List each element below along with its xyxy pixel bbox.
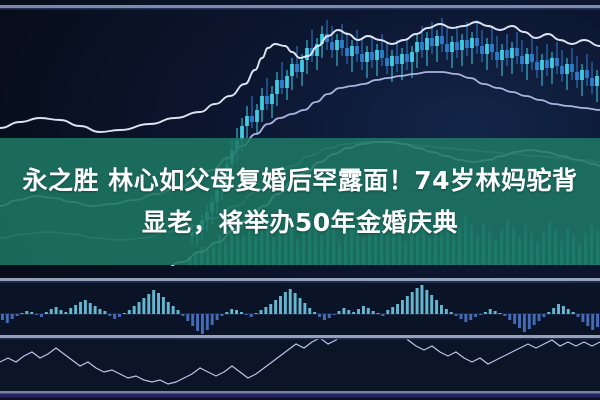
macd-bar [20, 313, 23, 314]
candle-body [370, 52, 374, 60]
candle-body [465, 40, 469, 48]
candle-body [475, 38, 479, 46]
macd-bar [577, 314, 580, 317]
macd-bar [94, 306, 97, 314]
headline-line-1: 永之胜 林心如父母复婚后罕露面！74岁林妈驼背 [23, 161, 578, 201]
macd-bar [216, 314, 219, 320]
macd-bar [245, 314, 248, 315]
macd-bar [357, 309, 360, 314]
macd-bar [118, 314, 121, 317]
macd-bar [430, 295, 433, 314]
candle-body [255, 110, 259, 122]
macd-bar [152, 290, 155, 314]
macd-bar [274, 300, 277, 314]
macd-bar [50, 309, 53, 314]
candle-body [290, 64, 294, 76]
macd-bar [420, 285, 423, 314]
macd-bar [523, 314, 526, 332]
candle-body [300, 60, 304, 72]
macd-bar [196, 314, 199, 331]
candle-body [385, 58, 389, 66]
macd-bar [518, 314, 521, 328]
macd-bar [401, 300, 404, 314]
macd-bar [186, 314, 189, 321]
macd-bar [318, 314, 321, 317]
macd-bar [572, 312, 575, 314]
candle-body [305, 48, 309, 60]
macd-bar [552, 308, 555, 314]
macd-bar [99, 309, 102, 314]
macd-bar [147, 294, 150, 314]
macd-bar [11, 314, 14, 319]
macd-bar [323, 314, 326, 320]
macd-bar [45, 312, 48, 314]
macd-bar [235, 310, 238, 314]
macd-bar [142, 298, 145, 314]
macd-bar [220, 314, 223, 316]
candle-body [400, 54, 404, 64]
candle-body [485, 44, 489, 54]
candle-body [360, 54, 364, 62]
candle-body [575, 72, 579, 80]
macd-bar [538, 314, 541, 321]
candle-body [250, 116, 254, 122]
candle-body [500, 50, 504, 60]
macd-bar [479, 314, 482, 315]
macd-bar [586, 314, 589, 326]
candle-body [555, 58, 559, 66]
candle-body [580, 70, 584, 80]
macd-bar [16, 314, 19, 316]
candle-body [565, 64, 569, 74]
candle-body [295, 64, 299, 72]
macd-bar [225, 312, 228, 314]
macd-bar [562, 306, 565, 314]
macd-bar [69, 308, 72, 314]
macd-bar [416, 288, 419, 314]
panel-divider-shadow-2 [0, 338, 600, 340]
candle-body [440, 36, 444, 44]
panel-divider-shadow-1 [0, 281, 600, 283]
macd-bar [313, 312, 316, 314]
candle-body [350, 46, 354, 56]
macd-bar [35, 314, 38, 315]
candle-body [545, 60, 549, 68]
macd-bar [352, 312, 355, 314]
candle-body [495, 52, 499, 60]
macd-bar [206, 314, 209, 330]
candle-body [515, 48, 519, 56]
macd-bar [250, 314, 253, 317]
panel-divider-rule-1 [0, 278, 600, 281]
macd-bar [260, 310, 263, 314]
macd-bar [177, 310, 180, 314]
macd-bar [25, 311, 28, 314]
macd-bar [503, 314, 506, 316]
macd-bar [425, 290, 428, 314]
macd-bar [596, 314, 599, 327]
candle-body [420, 42, 424, 50]
candle-body [425, 38, 429, 50]
candle-body [335, 40, 339, 50]
candle-body [340, 40, 344, 48]
ma-line-upper [0, 22, 600, 132]
candle-body [535, 62, 539, 70]
macd-bar [79, 302, 82, 314]
top-highlight-rule [0, 5, 600, 8]
macd-bar [308, 308, 311, 314]
candle-body [570, 64, 574, 72]
macd-bar [581, 314, 584, 322]
macd-bar [591, 314, 594, 330]
candle-body [265, 96, 269, 104]
macd-bar [406, 296, 409, 314]
macd-bar [489, 309, 492, 314]
candle-body [505, 50, 509, 58]
candle-body [415, 42, 419, 52]
candle-body [275, 80, 279, 94]
macd-bar [303, 303, 306, 314]
candle-body [410, 52, 414, 62]
candle-body [590, 78, 594, 86]
candle-body [460, 40, 464, 50]
macd-bar [499, 313, 502, 314]
macd-bar [269, 304, 272, 314]
candle-body [445, 44, 449, 52]
macd-bar [138, 302, 141, 314]
candle-body [455, 42, 459, 50]
candle-body [395, 56, 399, 64]
macd-bar [191, 314, 194, 326]
headline-band: 永之胜 林心如父母复婚后罕露面！74岁林妈驼背 显老，将举办50年金婚庆典 [0, 138, 600, 265]
macd-bar [89, 303, 92, 314]
candle-body [450, 42, 454, 52]
macd-bar [103, 311, 106, 314]
macd-bar [1, 314, 4, 320]
macd-bar [167, 302, 170, 314]
macd-bar [445, 309, 448, 314]
macd-bar [557, 304, 560, 314]
macd-bar [533, 314, 536, 325]
macd-bar [547, 312, 550, 314]
macd-bar [342, 308, 345, 314]
bottom-accent-rule [0, 394, 600, 398]
candle-body [330, 42, 334, 50]
macd-bar [123, 313, 126, 314]
macd-bar [338, 311, 341, 314]
macd-bar [377, 313, 380, 314]
macd-bar [386, 310, 389, 314]
macd-bar [464, 314, 467, 322]
macd-bar [440, 305, 443, 314]
macd-bar [64, 312, 67, 314]
macd-bar [157, 293, 160, 314]
candle-body [345, 48, 349, 56]
macd-bar [367, 308, 370, 314]
headline-line-2: 显老，将举办50年金婚庆典 [142, 203, 458, 243]
macd-bar [289, 289, 292, 314]
candle-body [490, 44, 494, 52]
macd-bar [30, 312, 33, 314]
macd-bar [60, 310, 63, 314]
top-shadow-rule [0, 8, 600, 10]
macd-bar [6, 314, 9, 323]
macd-bar [347, 310, 350, 314]
macd-bar [113, 314, 116, 319]
candle-body [355, 46, 359, 54]
macd-bar [201, 314, 204, 334]
candle-body [260, 96, 264, 110]
macd-bar [450, 312, 453, 314]
macd-bar [84, 300, 87, 314]
macd-bar [264, 307, 267, 314]
panel-divider-rule-2 [0, 335, 600, 338]
candle-body [540, 60, 544, 70]
macd-bar [508, 314, 511, 320]
macd-bar [567, 309, 570, 314]
candle-body [585, 70, 589, 78]
candle-body [550, 58, 554, 68]
indicator-panel-bg [0, 339, 600, 396]
thumbnail-image: 永之胜 林心如父母复婚后罕露面！74岁林妈驼背 显老，将举办50年金婚庆典 [0, 0, 600, 400]
macd-bar [528, 314, 531, 329]
candle-body [390, 56, 394, 66]
candle-body [525, 54, 529, 64]
macd-bar [279, 296, 282, 314]
macd-bar [172, 306, 175, 314]
candle-body [405, 54, 409, 62]
macd-bar [372, 311, 375, 314]
candle-body [285, 76, 289, 88]
candle-body [380, 50, 384, 58]
candle-body [480, 46, 484, 54]
macd-bar [255, 313, 258, 314]
candle-body [365, 52, 369, 62]
macd-bar [484, 312, 487, 314]
macd-bar [494, 311, 497, 314]
macd-bar [474, 314, 477, 317]
macd-bar [108, 314, 111, 316]
macd-bar [396, 304, 399, 314]
macd-bar [133, 306, 136, 314]
macd-bar [230, 309, 233, 314]
macd-bar [460, 314, 463, 319]
candle-body [510, 48, 514, 58]
macd-bar [240, 312, 243, 314]
macd-bar [513, 314, 516, 324]
macd-bar [55, 307, 58, 314]
macd-bar [333, 314, 336, 315]
bottom-highlight-rule [0, 391, 600, 394]
candle-body [430, 38, 434, 46]
macd-bar [284, 292, 287, 314]
macd-bar [455, 314, 458, 316]
macd-bar [74, 305, 77, 314]
candle-body [520, 56, 524, 64]
macd-bar [211, 314, 214, 325]
macd-bar [162, 297, 165, 314]
macd-bar [299, 298, 302, 314]
macd-bar [128, 310, 131, 314]
macd-bar [381, 314, 384, 316]
macd-bar [435, 300, 438, 314]
candle-body [375, 50, 379, 60]
candle-body [560, 66, 564, 74]
candle-body [245, 116, 249, 126]
macd-bar [411, 292, 414, 314]
macd-bar [294, 293, 297, 314]
candle-body [530, 54, 534, 62]
candle-body [595, 76, 599, 86]
candle-body [435, 36, 439, 46]
macd-bar [181, 314, 184, 316]
macd-bar [328, 314, 331, 318]
candle-body [470, 38, 474, 48]
macd-bar [542, 314, 545, 317]
candle-body [280, 80, 284, 88]
macd-bar [40, 314, 43, 317]
macd-bar [469, 314, 472, 320]
macd-bar [362, 306, 365, 314]
macd-bar [391, 307, 394, 314]
candle-body [270, 94, 274, 104]
